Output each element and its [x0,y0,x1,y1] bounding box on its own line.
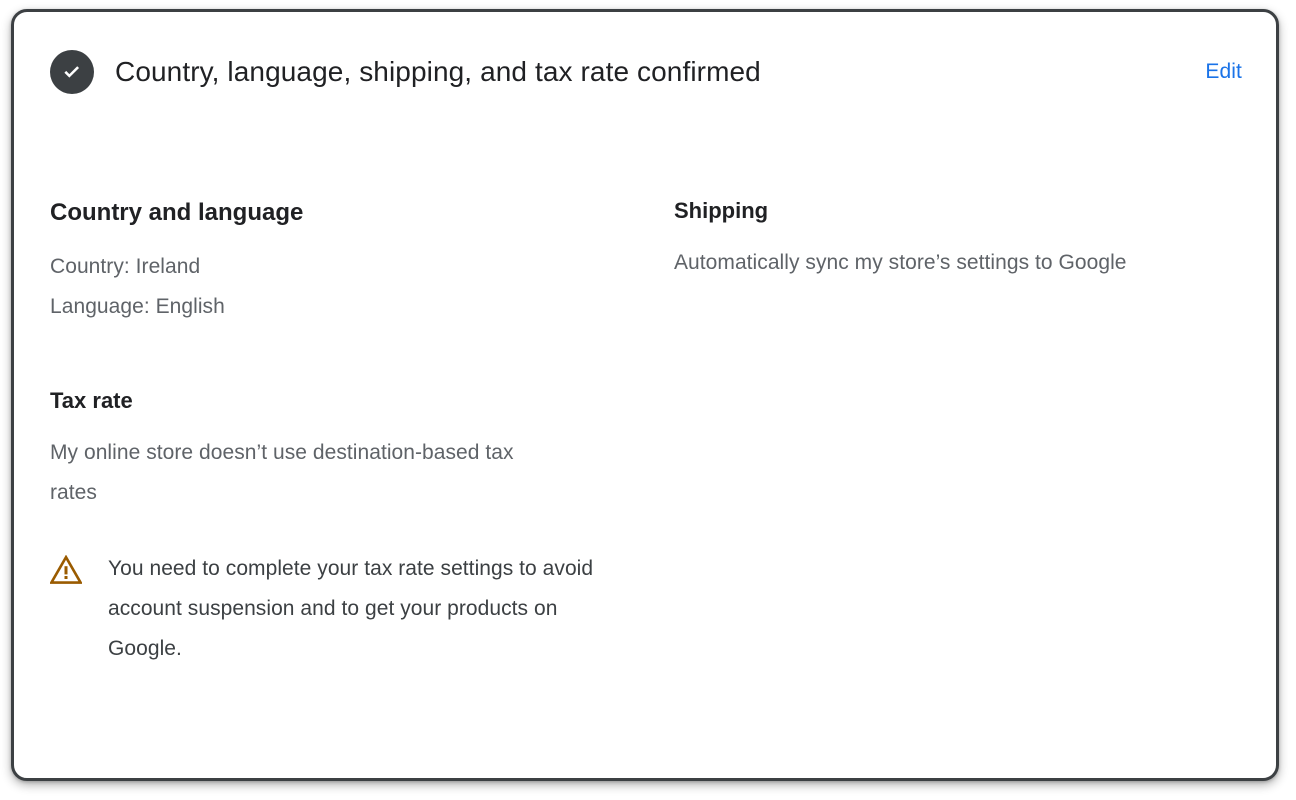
shipping-section: Shipping Automatically sync my store’s s… [674,197,1240,283]
card-header: Country, language, shipping, and tax rat… [14,12,1276,132]
tax-rate-heading: Tax rate [50,387,674,415]
left-column: Country and language Country: Ireland La… [50,197,674,669]
shipping-heading: Shipping [674,197,1240,225]
card-body: Country and language Country: Ireland La… [50,197,1240,669]
warning-message: You need to complete your tax rate setti… [108,549,598,669]
tax-rate-warning: You need to complete your tax rate setti… [50,549,674,669]
edit-link[interactable]: Edit [1205,59,1242,85]
country-value: Country: Ireland [50,247,674,287]
tax-rate-description: My online store doesn’t use destination-… [50,433,565,513]
country-language-heading: Country and language [50,197,674,229]
warning-triangle-icon [50,555,82,585]
right-column: Shipping Automatically sync my store’s s… [674,197,1240,283]
tax-rate-section: Tax rate My online store doesn’t use des… [50,387,674,669]
country-language-section: Country and language Country: Ireland La… [50,197,674,327]
check-circle-icon [50,50,94,94]
page-title: Country, language, shipping, and tax rat… [115,54,1205,90]
two-column-layout: Country and language Country: Ireland La… [50,197,1240,669]
language-value: Language: English [50,287,674,327]
shipping-description: Automatically sync my store’s settings t… [674,243,1204,283]
screen-root: Country, language, shipping, and tax rat… [0,0,1296,800]
confirmation-card: Country, language, shipping, and tax rat… [11,9,1279,781]
